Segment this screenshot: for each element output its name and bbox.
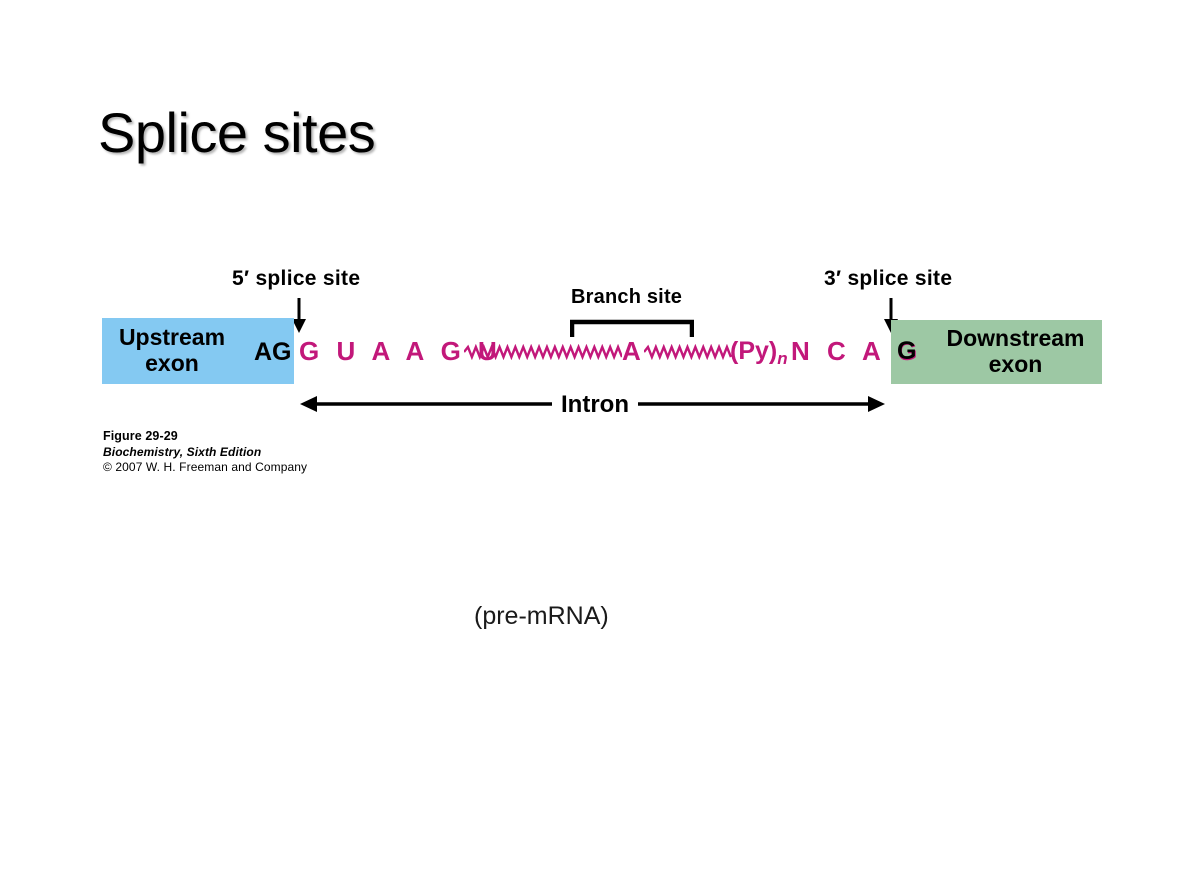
label-five-prime-splice-site: 5′ splice site bbox=[232, 267, 360, 291]
label-intron: Intron bbox=[552, 391, 638, 419]
caption-book-title: Biochemistry, Sixth Edition bbox=[103, 445, 307, 461]
intron-squiggle-line-left bbox=[464, 344, 622, 360]
pre-mrna-label: (pre-mRNA) bbox=[474, 602, 609, 631]
caption-copyright: © 2007 W. H. Freeman and Company bbox=[103, 460, 307, 476]
sequence-exon-end-ag: AG bbox=[254, 338, 292, 367]
sequence-downstream-exon-start-g: G bbox=[897, 337, 916, 366]
label-three-prime-splice-site: 3′ splice site bbox=[824, 267, 952, 291]
figure-caption: Figure 29-29 Biochemistry, Sixth Edition… bbox=[103, 428, 307, 476]
sequence-polypyrimidine-tract: (Py)n bbox=[730, 337, 788, 369]
slide-canvas: Splice sites 5′ splice site 3′ splice si… bbox=[0, 0, 1202, 876]
downstream-exon-label-line2: exon bbox=[989, 351, 1043, 377]
downstream-exon-label-line1: Downstream bbox=[946, 325, 1084, 351]
intron-squiggle-line-right bbox=[644, 344, 732, 360]
splice-site-diagram: 5′ splice site 3′ splice site Branch sit… bbox=[0, 0, 1202, 876]
branch-site-bracket bbox=[570, 318, 694, 338]
polypyrimidine-subscript: n bbox=[777, 349, 787, 368]
caption-figure-number: Figure 29-29 bbox=[103, 428, 307, 445]
sequence-branch-adenosine: A bbox=[622, 336, 641, 367]
label-branch-site: Branch site bbox=[571, 286, 682, 309]
downstream-exon-box: Downstream exon bbox=[891, 320, 1102, 384]
upstream-exon-label-line1: Upstream bbox=[119, 324, 225, 350]
polypyrimidine-text: (Py) bbox=[730, 337, 777, 365]
upstream-exon-label-line2: exon bbox=[145, 350, 199, 376]
